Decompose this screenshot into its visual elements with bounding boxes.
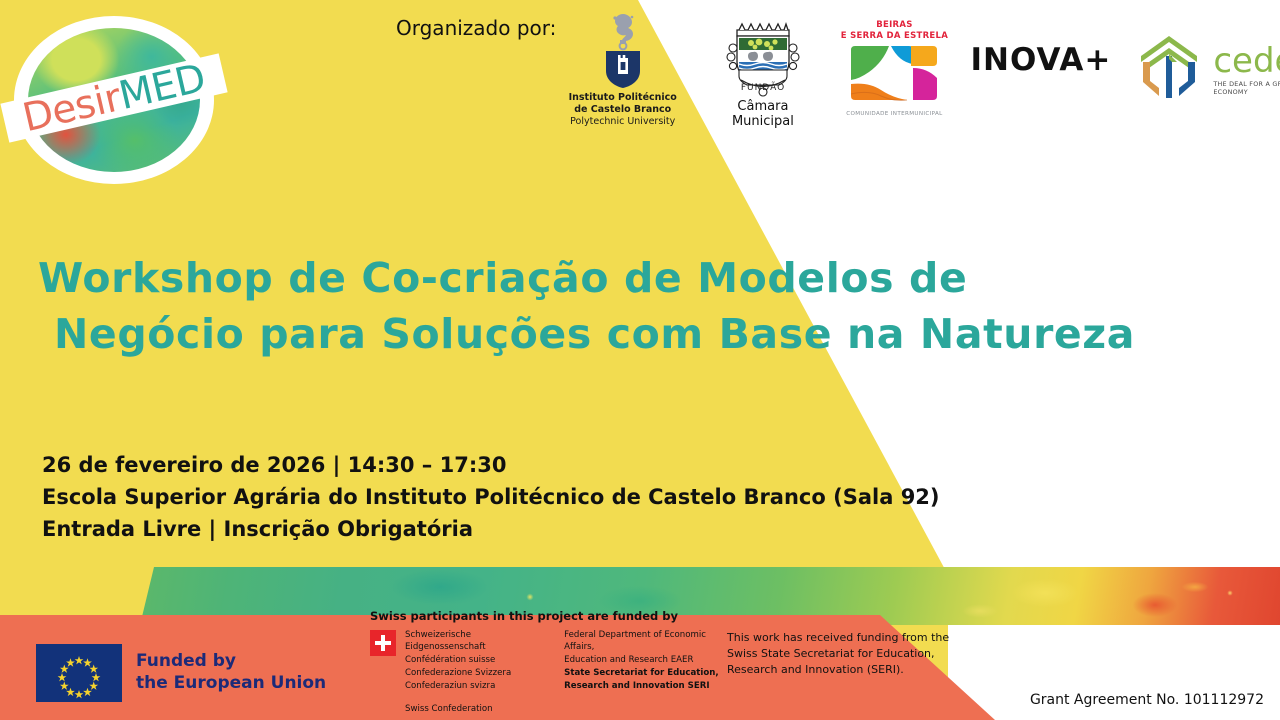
logo-beiras-serra-estrela: BEIRAS E SERRA DA ESTRELA COMUNIDADE INT…	[840, 8, 948, 117]
seri-note-line3: Research and Innovation (SERI).	[727, 662, 949, 678]
eu-funding-line2: the European Union	[136, 673, 326, 695]
ipcb-line3: Polytechnic University	[560, 116, 685, 128]
eu-funding-line1: Funded by	[136, 651, 326, 673]
fundao-crest-word: FUNDÃO	[741, 82, 785, 93]
swiss-flag-icon	[370, 630, 396, 656]
swiss-funding-heading: Swiss participants in this project are f…	[370, 609, 720, 623]
organizer-logos: Instituto Politécnico de Castelo Branco …	[560, 8, 1280, 129]
cedes-tagline: THE DEAL FOR A GREEN ECONOMY	[1213, 80, 1280, 96]
ipcb-line2: de Castelo Branco	[560, 104, 685, 116]
swiss-dept-line2: Education and Research EAER	[564, 654, 720, 667]
fundao-crest-icon: FUNDÃO	[707, 18, 818, 98]
cedes-text-block: cedes THE DEAL FOR A GREEN ECONOMY	[1213, 40, 1280, 97]
organized-by-label: Organizado por:	[396, 16, 556, 40]
swiss-confederation-label: Swiss Confederation	[405, 704, 720, 714]
event-datetime: 26 de fevereiro de 2026 | 14:30 – 17:30	[42, 450, 940, 482]
beiras-title: BEIRAS E SERRA DA ESTRELA	[840, 20, 948, 41]
swiss-lang-de: Schweizerische Eidgenossenschaft	[405, 629, 538, 655]
logo-inova-plus: INOVA+	[970, 8, 1111, 78]
beiras-caption: COMUNIDADE INTERMUNICIPAL	[840, 111, 948, 117]
swiss-lang-fr: Confédération suisse	[405, 654, 538, 667]
event-registration: Entrada Livre | Inscrição Obrigatória	[42, 514, 940, 546]
cedes-mark-icon	[1133, 32, 1205, 104]
swiss-lang-it: Confederazione Svizzera	[405, 667, 538, 680]
swiss-dept-line3: State Secretariat for Education,	[564, 667, 720, 680]
beiras-title-line2: E SERRA DA ESTRELA	[840, 31, 948, 42]
event-venue: Escola Superior Agrária do Instituto Pol…	[42, 482, 940, 514]
swiss-text-columns: Schweizerische Eidgenossenschaft Confédé…	[405, 629, 720, 693]
poster-title: Workshop de Co-criação de Modelos de Neg…	[38, 250, 1248, 362]
inova-wordmark: INOVA+	[970, 42, 1111, 78]
poster-title-line1: Workshop de Co-criação de Modelos de	[38, 250, 1248, 306]
logo-cedes: cedes THE DEAL FOR A GREEN ECONOMY	[1133, 8, 1280, 104]
logo-ipcb: Instituto Politécnico de Castelo Branco …	[560, 8, 685, 128]
beiras-title-line1: BEIRAS	[840, 20, 948, 31]
cedes-wordmark: cedes	[1213, 46, 1280, 77]
desirmed-logo: DesirMED	[14, 16, 214, 184]
event-details: 26 de fevereiro de 2026 | 14:30 – 17:30 …	[42, 450, 940, 546]
eu-flag-icon	[36, 644, 122, 702]
fundao-caption: Câmara Municipal	[707, 99, 818, 129]
seri-funding-note: This work has received funding from the …	[727, 630, 949, 678]
ipcb-line1: Instituto Politécnico	[560, 92, 685, 104]
grant-agreement-number: Grant Agreement No. 101112972	[1030, 692, 1264, 708]
seri-note-line1: This work has received funding from the	[727, 630, 949, 646]
logo-camara-municipal-fundao: FUNDÃO Câmara Municipal	[707, 8, 818, 129]
swiss-funding-block: Swiss participants in this project are f…	[370, 609, 720, 714]
ipcb-crest-icon	[560, 12, 685, 88]
poster-title-line2: Negócio para Soluções com Base na Nature…	[38, 306, 1248, 362]
swiss-dept-line1: Federal Department of Economic Affairs,	[564, 629, 720, 655]
swiss-col-department: Federal Department of Economic Affairs, …	[564, 629, 720, 693]
eu-funding-block: Funded by the European Union	[36, 644, 326, 702]
ipcb-name: Instituto Politécnico de Castelo Branco …	[560, 92, 685, 128]
seri-note-line2: Swiss State Secretariat for Education,	[727, 646, 949, 662]
swiss-funding-row: Schweizerische Eidgenossenschaft Confédé…	[370, 629, 720, 693]
swiss-col-languages: Schweizerische Eidgenossenschaft Confédé…	[405, 629, 538, 693]
swiss-lang-rm: Confederaziun svizra	[405, 680, 538, 693]
swiss-dept-line4: Research and Innovation SERI	[564, 680, 720, 693]
beiras-mark-icon	[845, 44, 943, 108]
eu-funding-text: Funded by the European Union	[136, 651, 326, 695]
event-poster: DesirMED Organizado por:	[0, 0, 1280, 720]
